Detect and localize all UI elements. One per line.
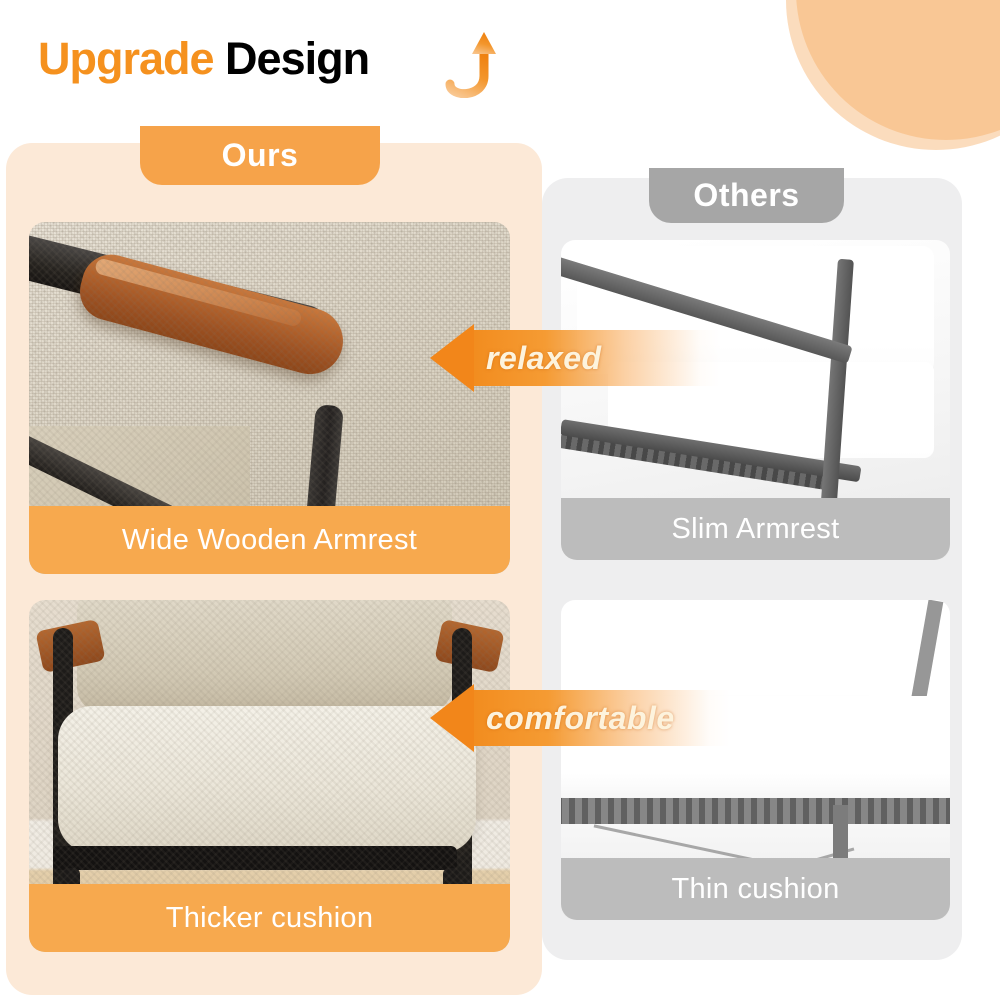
infographic-page: Upgrade Design Ours Wide Wooden Armr (0, 0, 1000, 1000)
caption-wide-wooden-armrest: Wide Wooden Armrest (29, 506, 510, 574)
title-word-upgrade: Upgrade (38, 33, 214, 84)
tab-others[interactable]: Others (649, 168, 844, 223)
caption-thicker-cushion: Thicker cushion (29, 884, 510, 952)
card-ours-armrest[interactable]: Wide Wooden Armrest (29, 222, 510, 574)
corner-decoration-outer (786, 0, 1000, 150)
curved-up-arrow-icon (440, 28, 500, 98)
tab-ours[interactable]: Ours (140, 126, 380, 185)
card-others-armrest[interactable]: Slim Armrest (561, 240, 950, 560)
card-others-cushion[interactable]: Thin cushion (561, 600, 950, 920)
page-title: Upgrade Design (38, 36, 369, 81)
caption-thin-cushion: Thin cushion (561, 858, 950, 920)
caption-slim-armrest: Slim Armrest (561, 498, 950, 560)
corner-decoration-inner (796, 0, 1000, 140)
title-word-design: Design (225, 33, 369, 84)
card-ours-cushion[interactable]: Thicker cushion (29, 600, 510, 952)
